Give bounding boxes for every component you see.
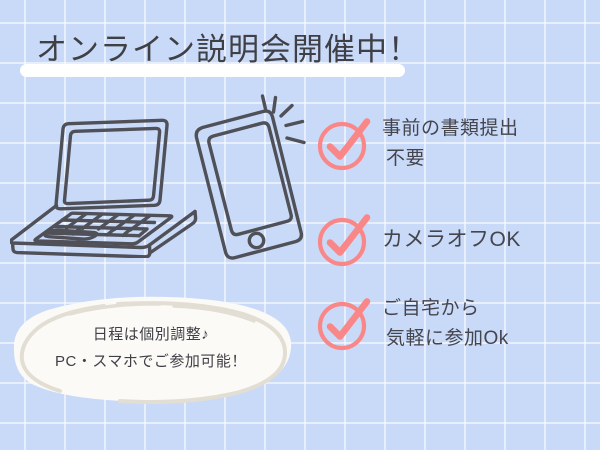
list-item: カメラオフOK: [316, 212, 521, 268]
list-item-label: 事前の書類提出 不要: [382, 114, 519, 174]
page-title: オンライン説明会開催中！: [36, 28, 420, 72]
check-circle-icon: [316, 212, 372, 268]
note-bubble-line2: PC・スマホでご参加可能！: [55, 348, 247, 375]
check-circle-icon: [316, 116, 372, 172]
laptop-icon: [10, 108, 200, 258]
list-item-label: ご自宅から 気軽に参加Ok: [382, 294, 509, 354]
list-item-line2: 不要: [382, 144, 519, 174]
list-item-line1: カメラオフOK: [382, 228, 521, 251]
list-item-line2: 気軽に参加Ok: [382, 324, 509, 354]
list-item-label: カメラオフOK: [382, 225, 521, 255]
list-item-line1: ご自宅から: [382, 298, 480, 319]
title-block: オンライン説明会開催中！: [18, 28, 438, 84]
list-item: 事前の書類提出 不要: [316, 114, 519, 174]
check-circle-icon: [316, 296, 372, 352]
note-bubble: 日程は個別調整♪ PC・スマホでご参加可能！: [8, 292, 294, 404]
note-bubble-text: 日程は個別調整♪ PC・スマホでご参加可能！: [8, 292, 294, 404]
list-item: ご自宅から 気軽に参加Ok: [316, 294, 509, 354]
smartphone-icon: [182, 92, 312, 272]
poster-canvas: オンライン説明会開催中！: [0, 0, 600, 450]
note-bubble-line1: 日程は個別調整♪: [93, 321, 210, 348]
list-item-line1: 事前の書類提出: [382, 118, 519, 139]
